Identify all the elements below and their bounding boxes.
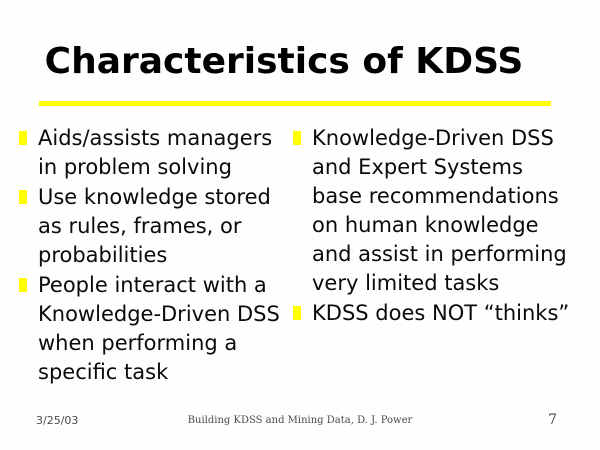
list-item-label: KDSS does NOT “thinks” (312, 299, 570, 328)
bullet-square-icon (19, 190, 27, 204)
list-item: Aids/assists managers in problem solving (16, 124, 284, 182)
bullet-square-icon (293, 131, 301, 145)
list-item-label: Aids/assists managers in problem solving (38, 124, 284, 182)
bullet-column-left: Aids/assists managers in problem solving… (16, 124, 284, 388)
bullet-square-icon (19, 278, 27, 292)
slide-body: Aids/assists managers in problem solving… (0, 124, 600, 394)
bullet-column-right: Knowledge-Driven DSS and Expert Systems … (290, 124, 570, 329)
list-item: Knowledge-Driven DSS and Expert Systems … (290, 124, 570, 298)
list-item: KDSS does NOT “thinks” (290, 299, 570, 328)
list-item-label: Knowledge-Driven DSS and Expert Systems … (312, 124, 570, 298)
slide-footer: 3/25/03 Building KDSS and Mining Data, D… (0, 412, 600, 436)
footer-page-number: 7 (548, 412, 557, 428)
slide: Characteristics of KDSS Aids/assists man… (0, 0, 600, 450)
page-title: Characteristics of KDSS (0, 41, 568, 83)
list-item: Use knowledge stored as rules, frames, o… (16, 183, 284, 270)
list-item-label: Use knowledge stored as rules, frames, o… (38, 183, 284, 270)
footer-title-text: Building KDSS and Mining Data, D. J. Pow… (0, 415, 600, 426)
list-item: People interact with a Knowledge-Driven … (16, 271, 284, 387)
title-underline-rule (39, 101, 551, 106)
bullet-square-icon (19, 131, 27, 145)
list-item-label: People interact with a Knowledge-Driven … (38, 271, 284, 387)
bullet-square-icon (293, 306, 301, 320)
